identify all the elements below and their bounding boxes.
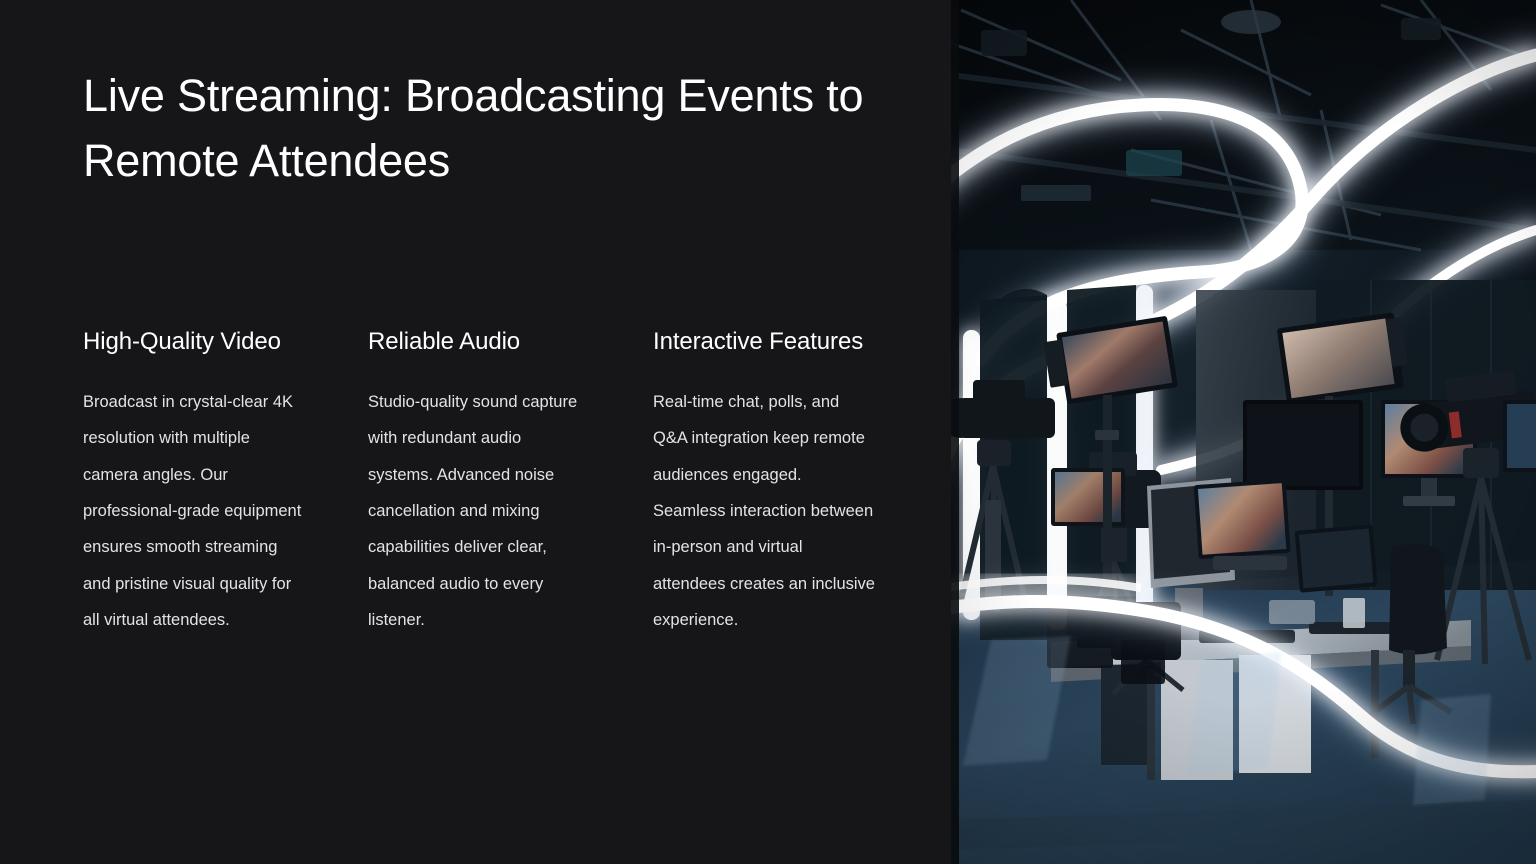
broadcast-studio-image	[951, 0, 1536, 864]
feature-column-interactive-features: Interactive Features Real-time chat, pol…	[653, 325, 875, 638]
feature-body: Studio-quality sound capture with redund…	[368, 384, 590, 638]
feature-heading: Interactive Features	[653, 325, 875, 358]
studio-photo-panel	[951, 0, 1536, 864]
feature-columns: High-Quality Video Broadcast in crystal-…	[83, 325, 893, 638]
monitor-left-small	[1051, 468, 1125, 526]
content-panel: Live Streaming: Broadcasting Events to R…	[0, 0, 951, 864]
page-title: Live Streaming: Broadcasting Events to R…	[83, 64, 883, 194]
feature-column-reliable-audio: Reliable Audio Studio-quality sound capt…	[368, 325, 590, 638]
desk-screen-center	[1194, 479, 1291, 570]
feature-heading: Reliable Audio	[368, 325, 590, 358]
feature-column-high-quality-video: High-Quality Video Broadcast in crystal-…	[83, 325, 305, 638]
feature-heading: High-Quality Video	[83, 325, 305, 358]
feature-body: Broadcast in crystal-clear 4K resolution…	[83, 384, 305, 638]
slide-root: Live Streaming: Broadcasting Events to R…	[0, 0, 1536, 864]
desk-screen-right	[1295, 524, 1378, 593]
feature-body: Real-time chat, polls, and Q&A integrati…	[653, 384, 875, 638]
